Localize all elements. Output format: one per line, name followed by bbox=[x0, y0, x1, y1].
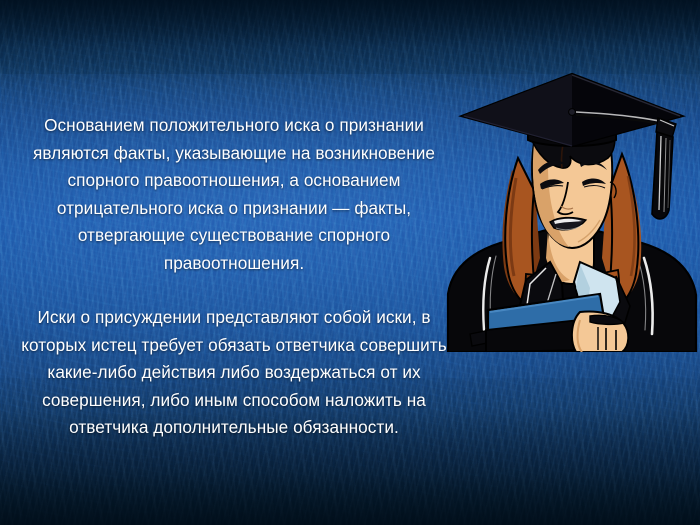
paragraph-1: Основанием положительного иска о признан… bbox=[8, 112, 460, 277]
female-graduate-illustration bbox=[430, 62, 700, 352]
mortarboard-cap bbox=[462, 74, 682, 146]
presentation-slide: Основанием положительного иска о признан… bbox=[0, 0, 700, 525]
paragraph-2: Иски о присуждении представляют собой ис… bbox=[8, 304, 460, 442]
slide-body-text: Основанием положительного иска о признан… bbox=[8, 112, 460, 442]
